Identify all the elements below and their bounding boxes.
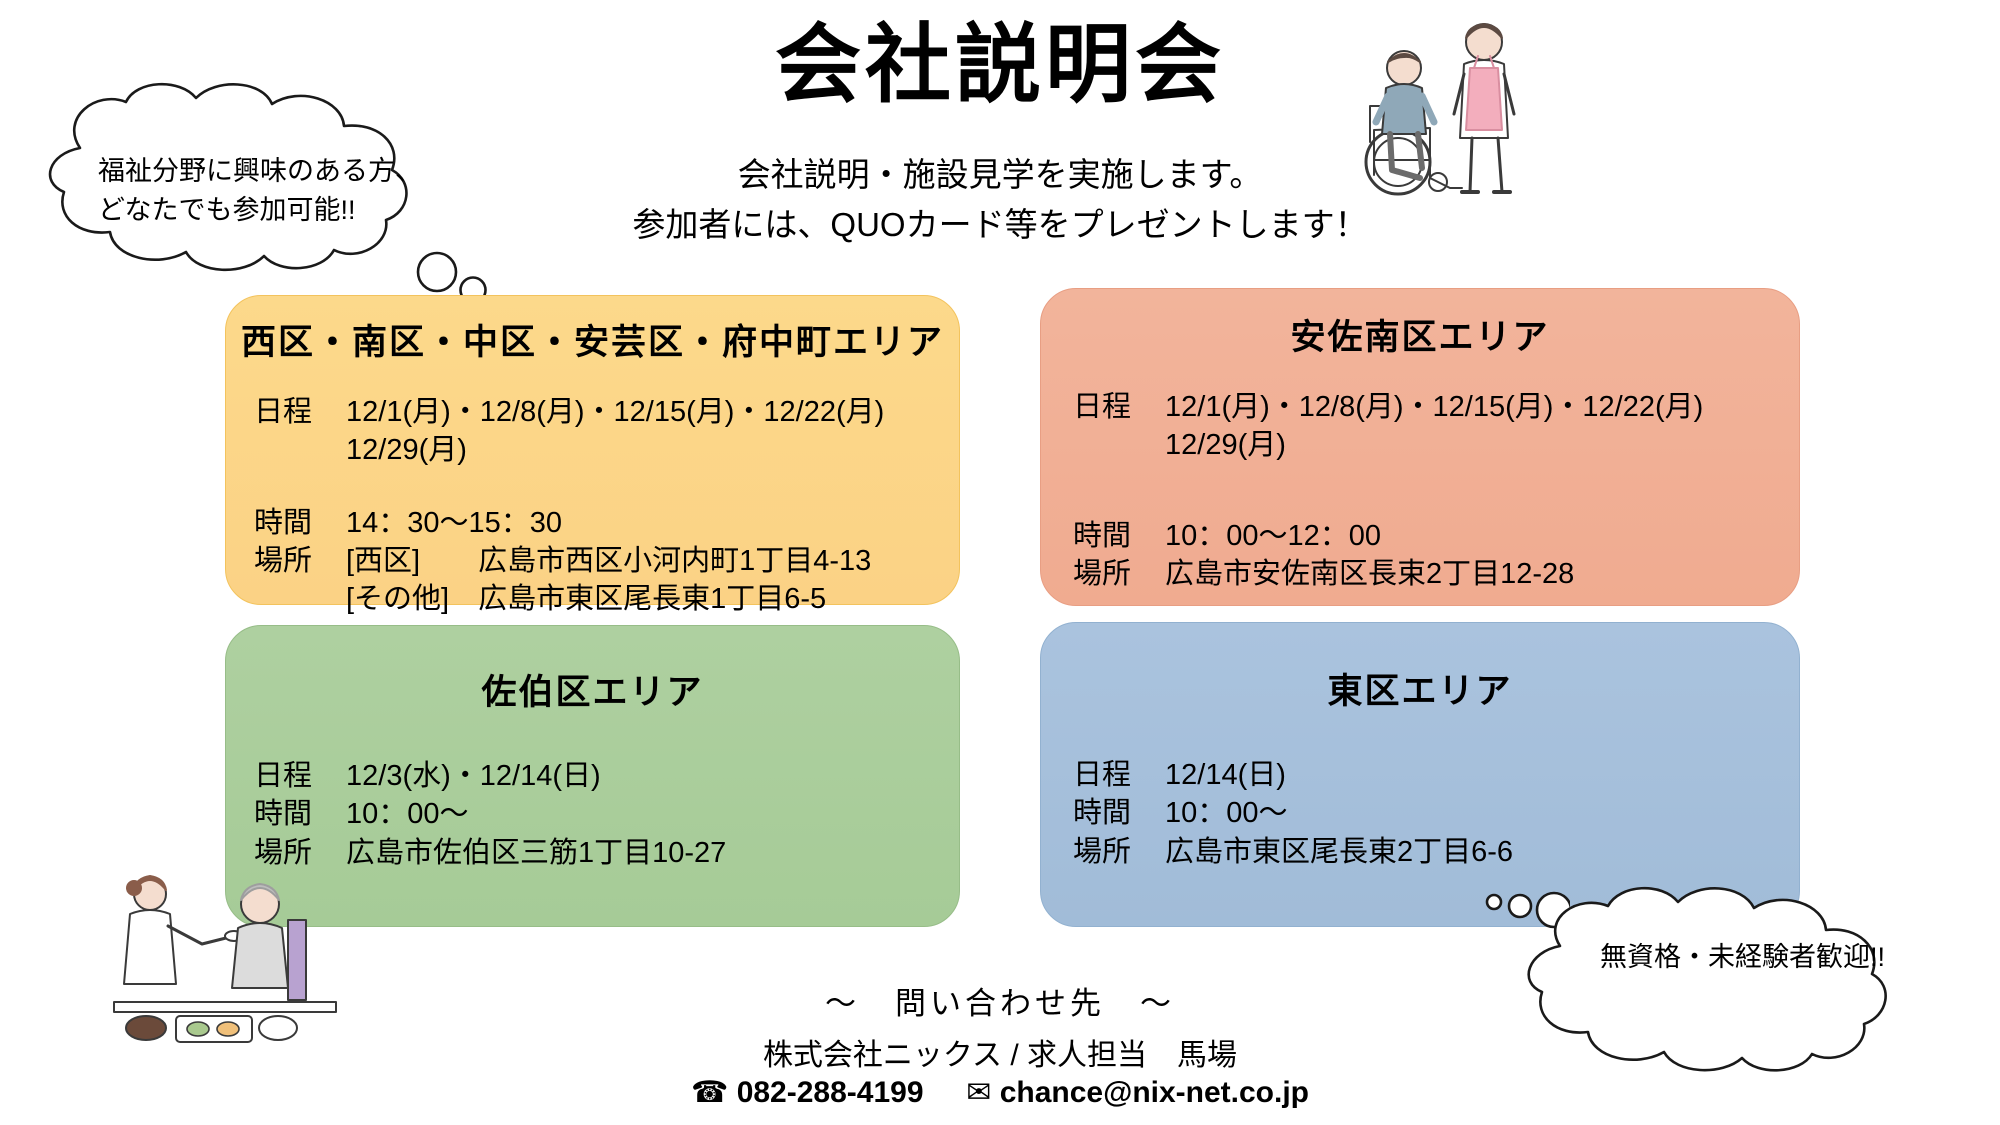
time-value: 14：30〜15：30 [346,504,959,542]
area-card-saeki-body: 日程 12/3(水)・12/14(日) 時間 10：00〜 場所 広島市佐伯区三… [254,757,959,872]
date-value-line-2: 12/29(月) [346,431,959,469]
place-label-spacer [254,580,346,618]
bubble-left-line-1: 福祉分野に興味のある方、 [98,152,422,191]
contact-heading: 〜 問い合わせ先 〜 [0,978,2000,1023]
time-row: 時間 14：30〜15：30 [254,504,959,542]
place-value-line-1: [西区] 広島市西区小河内町1丁目4-13 [346,542,959,580]
date-row: 日程 12/1(月)・12/8(月)・12/15(月)・12/22(月) [1073,388,1799,426]
bubble-left-line-2: どなたでも参加可能!! [98,191,422,230]
place-label: 場所 [254,542,346,580]
area-card-saeki-title: 佐伯区エリア [226,664,959,715]
place-value-line-1: 広島市安佐南区長束2丁目12-28 [1165,555,1799,593]
date-row: 日程 12/14(日) [1073,756,1799,794]
date-label: 日程 [1073,388,1165,426]
date-label-spacer [1073,426,1165,464]
thought-bubble-right-text: 無資格・未経験者歓迎!! [1600,938,1885,977]
time-row: 時間 10：00〜 [1073,794,1799,832]
date-value-line-1: 12/1(月)・12/8(月)・12/15(月)・12/22(月) [1165,388,1799,426]
place-row: 場所 広島市安佐南区長束2丁目12-28 [1073,555,1799,593]
area-card-asaminami-title: 安佐南区エリア [1041,309,1799,360]
area-card-nishi-title: 西区・南区・中区・安芸区・府中町エリア [226,314,959,365]
area-card-higashi-title: 東区エリア [1041,663,1799,714]
area-card-higashi-body: 日程 12/14(日) 時間 10：00〜 場所 広島市東区尾長東2丁目6-6 [1073,756,1799,871]
place-label: 場所 [1073,555,1165,593]
date-value-line-2: 12/29(月) [1165,426,1799,464]
place-label: 場所 [1073,833,1165,871]
place-row-continued: [その他] 広島市東区尾長東1丁目6-5 [254,580,959,618]
date-value-line-1: 12/1(月)・12/8(月)・12/15(月)・12/22(月) [346,393,959,431]
date-value-line-1: 12/14(日) [1165,756,1799,794]
date-row: 日程 12/1(月)・12/8(月)・12/15(月)・12/22(月) [254,393,959,431]
caregiver-wheelchair-illustration [1350,10,1530,210]
time-row: 時間 10：00〜12：00 [1073,517,1799,555]
contact-email[interactable]: chance@nix-net.co.jp [1000,1076,1309,1109]
time-label: 時間 [1073,517,1165,555]
date-label: 日程 [1073,756,1165,794]
date-label: 日程 [254,393,346,431]
date-label: 日程 [254,757,346,795]
contact-company: 株式会社ニックス / 求人担当 馬場 [0,1030,2000,1074]
place-value-line-1: 広島市東区尾長東2丁目6-6 [1165,833,1799,871]
time-value: 10：00〜 [1165,794,1799,832]
time-label: 時間 [1073,794,1165,832]
phone-icon: ☎ [691,1076,728,1109]
contact-phone[interactable]: 082-288-4199 [737,1076,924,1109]
time-label: 時間 [254,504,346,542]
bubble-right-line-1: 無資格・未経験者歓迎!! [1600,938,1885,977]
thought-bubble-left-text: 福祉分野に興味のある方、 どなたでも参加可能!! [98,152,422,230]
time-value: 10：00〜12：00 [1165,517,1799,555]
place-row: 場所 広島市佐伯区三筋1丁目10-27 [254,834,959,872]
area-card-asaminami[interactable]: 安佐南区エリア 日程 12/1(月)・12/8(月)・12/15(月)・12/2… [1040,288,1800,606]
date-row: 日程 12/3(水)・12/14(日) [254,757,959,795]
place-value-line-1: 広島市佐伯区三筋1丁目10-27 [346,834,959,872]
place-value-line-2: [その他] 広島市東区尾長東1丁目6-5 [346,580,959,618]
body-spacer [254,470,959,504]
area-card-nishi-body: 日程 12/1(月)・12/8(月)・12/15(月)・12/22(月) 12/… [254,393,959,618]
body-spacer [1073,465,1799,517]
place-row: 場所 [西区] 広島市西区小河内町1丁目4-13 [254,542,959,580]
area-card-nishi[interactable]: 西区・南区・中区・安芸区・府中町エリア 日程 12/1(月)・12/8(月)・1… [225,295,960,605]
time-label: 時間 [254,795,346,833]
date-label-spacer [254,431,346,469]
contact-details: ☎ 082-288-4199 ✉ chance@nix-net.co.jp [0,1075,2000,1110]
date-value-line-1: 12/3(水)・12/14(日) [346,757,959,795]
time-value: 10：00〜 [346,795,959,833]
mail-icon: ✉ [966,1076,991,1109]
date-row-continued: 12/29(月) [254,431,959,469]
date-row-continued: 12/29(月) [1073,426,1799,464]
time-row: 時間 10：00〜 [254,795,959,833]
place-row: 場所 広島市東区尾長東2丁目6-6 [1073,833,1799,871]
area-card-asaminami-body: 日程 12/1(月)・12/8(月)・12/15(月)・12/22(月) 12/… [1073,388,1799,593]
